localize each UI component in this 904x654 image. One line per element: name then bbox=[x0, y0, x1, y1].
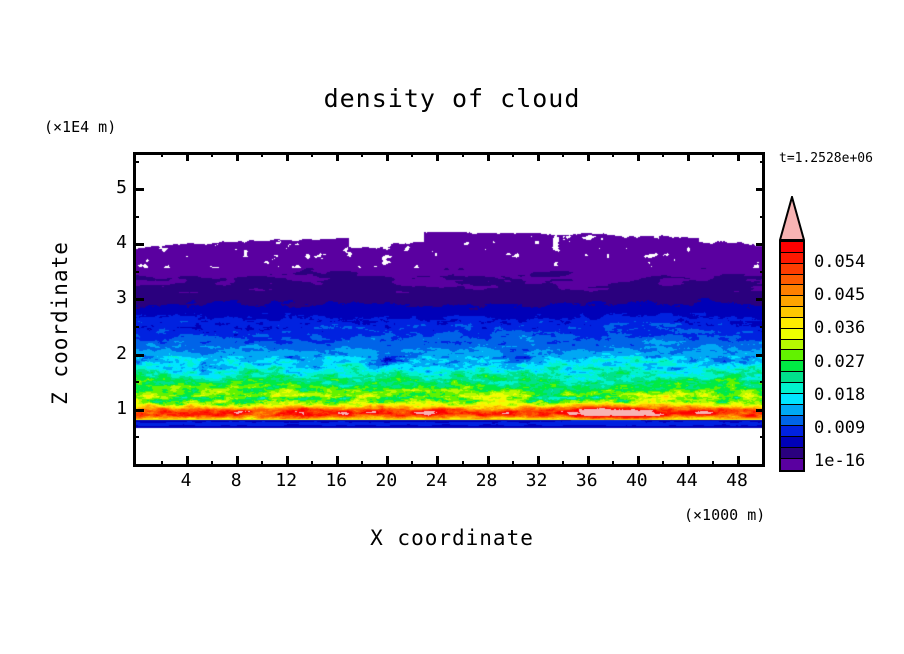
colorbar-band bbox=[781, 275, 803, 286]
x-axis-tick-minor bbox=[712, 461, 714, 467]
x-axis-tick-label: 16 bbox=[313, 470, 359, 491]
colorbar-band bbox=[781, 405, 803, 416]
x-axis-tick-major bbox=[587, 456, 590, 467]
colorbar-band bbox=[781, 350, 803, 361]
colorbar-band bbox=[781, 459, 803, 470]
colorbar-tick-label: 0.009 bbox=[814, 418, 865, 438]
colorbar-band bbox=[781, 383, 803, 394]
y-axis-tick-minor bbox=[133, 436, 139, 438]
colorbar-band bbox=[781, 296, 803, 307]
x-axis-unit-label: (×1000 m) bbox=[684, 506, 765, 524]
colorbar-tick-label: 0.045 bbox=[814, 285, 865, 305]
y-axis-tick-label: 3 bbox=[87, 287, 127, 308]
x-axis-tick-label: 32 bbox=[514, 470, 560, 491]
colorbar-tick-label: 0.027 bbox=[814, 352, 865, 372]
x-axis-tick-label: 8 bbox=[213, 470, 259, 491]
y-axis-tick-minor bbox=[133, 161, 139, 163]
y-axis-tick-right-major bbox=[756, 188, 765, 191]
colorbar-tick-label: 0.054 bbox=[814, 252, 865, 272]
x-axis-tick-major bbox=[737, 456, 740, 467]
x-axis-tick-top-minor bbox=[762, 152, 764, 157]
y-axis-title: Z coordinate bbox=[48, 233, 72, 413]
x-axis-tick-top-minor bbox=[512, 152, 514, 157]
x-axis-tick-top-minor bbox=[411, 152, 413, 157]
y-axis-tick-right-minor bbox=[760, 216, 765, 218]
colorbar: 0.0540.0450.0360.0270.0180.0091e-16 bbox=[776, 196, 904, 480]
x-axis-tick-label: 36 bbox=[564, 470, 610, 491]
x-axis-tick-top-major bbox=[537, 152, 540, 161]
x-axis-tick-top-major bbox=[637, 152, 640, 161]
colorbar-over-arrow-icon bbox=[779, 196, 805, 241]
y-axis-tick-right-major bbox=[756, 409, 765, 412]
x-axis-tick-top-major bbox=[286, 152, 289, 161]
x-axis-tick-minor bbox=[562, 461, 564, 467]
y-axis-tick-label: 5 bbox=[87, 177, 127, 198]
y-axis-tick-major bbox=[133, 409, 144, 412]
x-axis-title: X coordinate bbox=[0, 526, 904, 550]
x-axis-tick-label: 40 bbox=[614, 470, 660, 491]
y-axis-tick-major bbox=[133, 188, 144, 191]
colorbar-tick-label: 0.036 bbox=[814, 318, 865, 338]
y-axis-tick-right-minor bbox=[760, 271, 765, 273]
x-axis-tick-minor bbox=[311, 461, 313, 467]
x-axis-tick-major bbox=[687, 456, 690, 467]
x-axis-tick-major bbox=[537, 456, 540, 467]
x-axis-tick-top-minor bbox=[612, 152, 614, 157]
x-axis-tick-minor bbox=[762, 461, 764, 467]
x-axis-tick-major bbox=[436, 456, 439, 467]
colorbar-gradient bbox=[779, 240, 805, 472]
colorbar-band bbox=[781, 394, 803, 405]
x-axis-tick-label: 48 bbox=[714, 470, 760, 491]
y-axis-tick-right-minor bbox=[760, 381, 765, 383]
x-axis-tick-label: 12 bbox=[263, 470, 309, 491]
x-axis-tick-label: 44 bbox=[664, 470, 710, 491]
colorbar-band bbox=[781, 361, 803, 372]
x-axis-tick-top-minor bbox=[662, 152, 664, 157]
y-axis-tick-major bbox=[133, 354, 144, 357]
y-axis-tick-right-major bbox=[756, 354, 765, 357]
colorbar-band bbox=[781, 372, 803, 383]
x-axis-tick-top-major bbox=[436, 152, 439, 161]
y-axis-tick-labels: 12345 bbox=[85, 152, 127, 467]
colorbar-band bbox=[781, 318, 803, 329]
x-axis-tick-minor bbox=[361, 461, 363, 467]
y-axis-tick-major bbox=[133, 243, 144, 246]
x-axis-tick-major bbox=[286, 456, 289, 467]
y-axis-tick-right-minor bbox=[760, 326, 765, 328]
colorbar-band bbox=[781, 416, 803, 427]
x-axis-tick-top-major bbox=[587, 152, 590, 161]
x-axis-tick-top-minor bbox=[462, 152, 464, 157]
time-annotation: t=1.2528e+06 bbox=[779, 151, 873, 166]
colorbar-band bbox=[781, 307, 803, 318]
x-axis-tick-minor bbox=[612, 461, 614, 467]
y-axis-tick-right-major bbox=[756, 298, 765, 301]
x-axis-tick-label: 28 bbox=[464, 470, 510, 491]
colorbar-band bbox=[781, 329, 803, 340]
x-axis-tick-top-minor bbox=[161, 152, 163, 157]
y-axis-tick-minor bbox=[133, 381, 139, 383]
x-axis-tick-label: 4 bbox=[163, 470, 209, 491]
x-axis-tick-top-minor bbox=[261, 152, 263, 157]
colorbar-band bbox=[781, 437, 803, 448]
x-axis-tick-top-minor bbox=[562, 152, 564, 157]
x-axis-tick-minor bbox=[512, 461, 514, 467]
y-axis-tick-minor bbox=[133, 326, 139, 328]
x-axis-tick-minor bbox=[161, 461, 163, 467]
x-axis-tick-top-major bbox=[737, 152, 740, 161]
x-axis-tick-minor bbox=[662, 461, 664, 467]
colorbar-band bbox=[781, 340, 803, 351]
x-axis-tick-top-major bbox=[687, 152, 690, 161]
y-axis-tick-right-minor bbox=[760, 161, 765, 163]
page-title: density of cloud bbox=[0, 84, 904, 113]
y-axis-tick-label: 2 bbox=[87, 343, 127, 364]
x-axis-tick-top-minor bbox=[311, 152, 313, 157]
x-axis-tick-minor bbox=[211, 461, 213, 467]
colorbar-band bbox=[781, 448, 803, 459]
y-axis-tick-major bbox=[133, 298, 144, 301]
x-axis-tick-top-major bbox=[487, 152, 490, 161]
y-axis-tick-label: 4 bbox=[87, 232, 127, 253]
y-axis-unit-label: (×1E4 m) bbox=[44, 118, 116, 136]
y-axis-tick-right-minor bbox=[760, 436, 765, 438]
x-axis-tick-major bbox=[487, 456, 490, 467]
y-axis-tick-label: 1 bbox=[87, 398, 127, 419]
x-axis-tick-major bbox=[186, 456, 189, 467]
x-axis-tick-minor bbox=[411, 461, 413, 467]
x-axis-tick-top-major bbox=[336, 152, 339, 161]
x-axis-tick-top-minor bbox=[712, 152, 714, 157]
x-axis-tick-major bbox=[637, 456, 640, 467]
colorbar-band bbox=[781, 426, 803, 437]
colorbar-band bbox=[781, 242, 803, 253]
x-axis-tick-minor bbox=[462, 461, 464, 467]
y-axis-tick-right-major bbox=[756, 243, 765, 246]
y-axis-tick-minor bbox=[133, 216, 139, 218]
x-axis-tick-top-major bbox=[386, 152, 389, 161]
x-axis-tick-top-minor bbox=[211, 152, 213, 157]
x-axis-tick-label: 20 bbox=[363, 470, 409, 491]
x-axis-tick-label: 24 bbox=[413, 470, 459, 491]
x-axis-tick-top-minor bbox=[361, 152, 363, 157]
colorbar-tick-label: 0.018 bbox=[814, 385, 865, 405]
x-axis-tick-top-major bbox=[186, 152, 189, 161]
x-axis-tick-major bbox=[336, 456, 339, 467]
colorbar-band bbox=[781, 264, 803, 275]
y-axis-tick-minor bbox=[133, 271, 139, 273]
axis-tick-layer bbox=[133, 152, 765, 467]
x-axis-tick-major bbox=[386, 456, 389, 467]
x-axis-tick-minor bbox=[261, 461, 263, 467]
x-axis-tick-labels: 4812162024283236404448 bbox=[133, 470, 765, 498]
colorbar-tick-label: 1e-16 bbox=[814, 451, 865, 471]
x-axis-tick-major bbox=[236, 456, 239, 467]
colorbar-band bbox=[781, 285, 803, 296]
colorbar-band bbox=[781, 253, 803, 264]
x-axis-tick-top-major bbox=[236, 152, 239, 161]
